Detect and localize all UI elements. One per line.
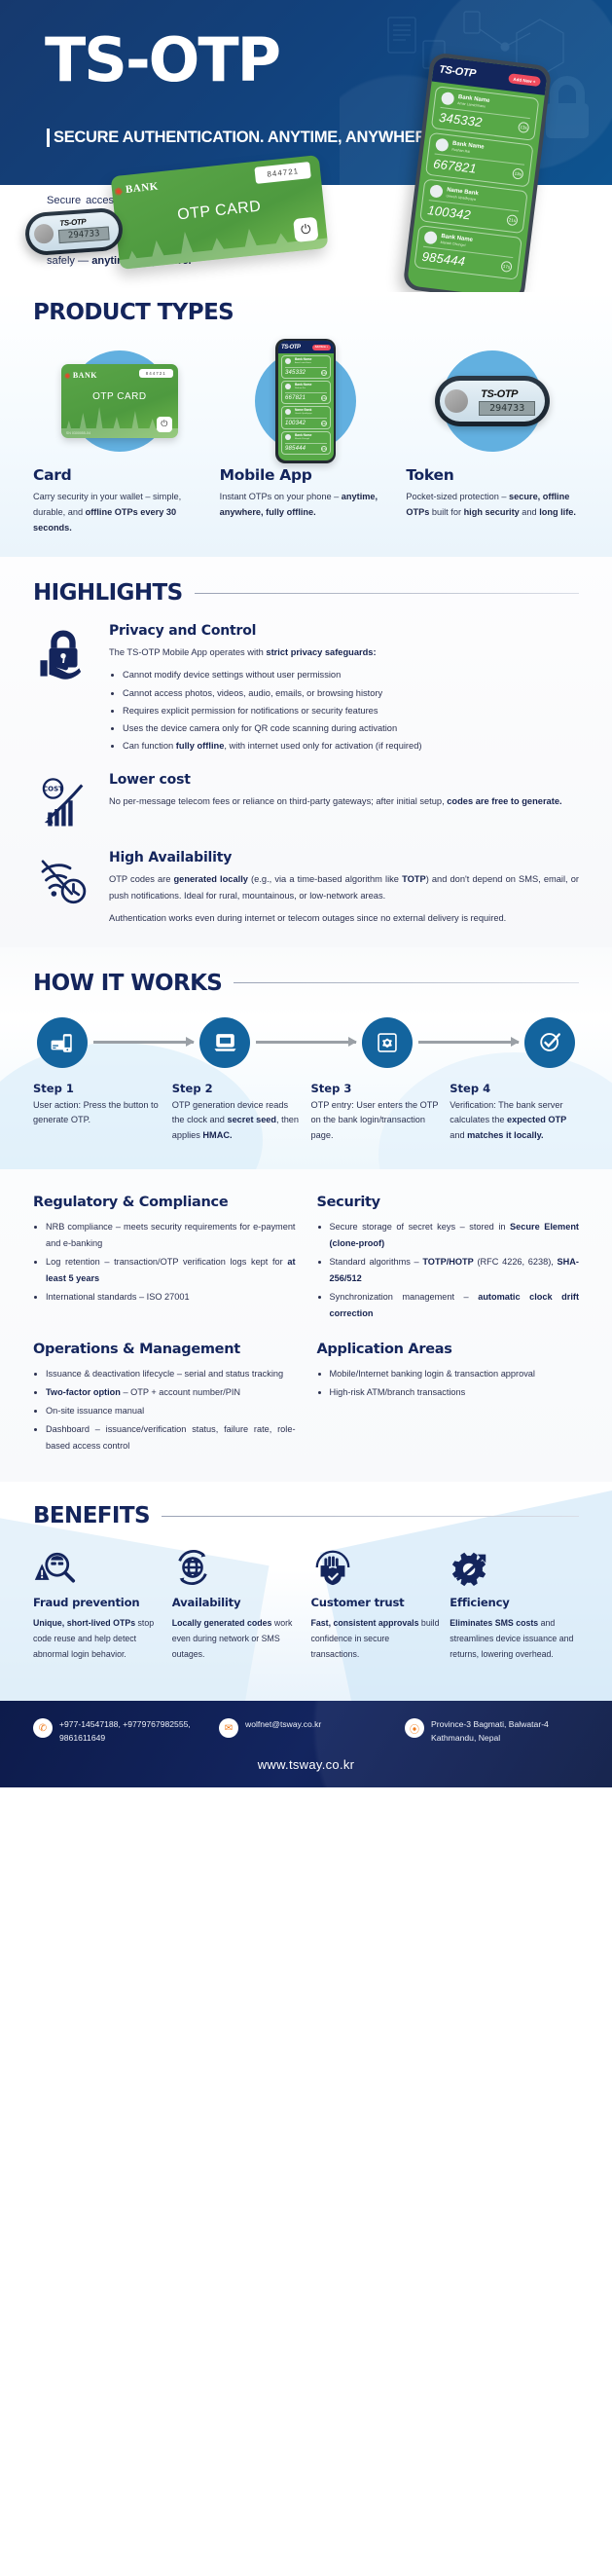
infographic-page: TS-OTP SECURE AUTHENTICATION. ANYTIME, A… xyxy=(0,0,612,1787)
info-title: Operations & Management xyxy=(33,1342,296,1357)
avatar xyxy=(435,138,449,152)
otp-code: 985444 xyxy=(285,446,306,452)
arrow-right-icon xyxy=(256,1041,356,1044)
avatar xyxy=(285,384,291,389)
footer-phone-text: +977-14547188, +9779767982555, 986161164… xyxy=(59,1718,207,1746)
info-bullet-list: Secure storage of secret keys – stored i… xyxy=(330,1219,580,1322)
list-item: Secure storage of secret keys – stored i… xyxy=(330,1219,580,1252)
info-title: Application Areas xyxy=(317,1342,580,1357)
product-type-card: ✺ BANK 844721 OTP CARD ⏻ SN 0300055-04 C… xyxy=(33,345,206,535)
list-item: Uses the device camera only for QR code … xyxy=(123,719,579,737)
list-item: On-site issuance manual xyxy=(46,1403,296,1419)
arrow-right-icon xyxy=(418,1041,519,1044)
product-type-desc: Instant OTPs on your phone – anytime, an… xyxy=(220,489,393,520)
info-sections: Regulatory & Compliance NRB compliance –… xyxy=(0,1169,612,1482)
highlight-intro: The TS-OTP Mobile App operates with stri… xyxy=(109,644,579,661)
product-type-name: Mobile App xyxy=(220,466,393,484)
token-brand-label: TS-OTP xyxy=(481,388,518,400)
step-desc: OTP entry: User enters the OTP on the ba… xyxy=(311,1098,441,1144)
otp-list-item[interactable]: Bank Name Amar Lamichhane 345332 13s xyxy=(431,86,540,141)
step-title: Step 3 xyxy=(311,1082,441,1095)
otp-person-name: Amar Lamichhane xyxy=(295,362,311,365)
list-item: Issuance & deactivation lifecycle – seri… xyxy=(46,1366,296,1382)
info-grid-top: Regulatory & Compliance NRB compliance –… xyxy=(33,1195,579,1324)
benefits-heading: BENEFITS xyxy=(33,1503,579,1528)
steps-text-row: Step 1 User action: Press the button to … xyxy=(33,1082,579,1144)
list-item: Cannot modify device settings without us… xyxy=(123,666,579,683)
step-item: Step 4 Verification: The bank server cal… xyxy=(450,1082,579,1144)
card-otp-number: 844721 xyxy=(255,162,311,184)
info-block-operations: Operations & Management Issuance & deact… xyxy=(33,1342,296,1456)
benefit-desc: Locally generated codes work even during… xyxy=(172,1616,302,1662)
avatar xyxy=(285,358,291,364)
list-item: International standards – ISO 27001 xyxy=(46,1289,296,1306)
otp-list-item[interactable]: Bank Name Manish Dhungel 985444 17s xyxy=(414,225,522,280)
token-button[interactable] xyxy=(445,389,468,413)
benefit-title: Customer trust xyxy=(311,1596,441,1609)
list-item: Two-factor option – OTP + account number… xyxy=(46,1384,296,1401)
offline-clock-icon xyxy=(33,850,93,910)
otp-list-item[interactable]: Bank Name Amar Lamichhane 345332 13s xyxy=(281,355,331,379)
cost-chart-icon: COST xyxy=(33,772,93,832)
otp-list-item[interactable]: Name Bank Umesh Upadhyaya 100342 21s xyxy=(281,406,331,429)
otp-code: 667821 xyxy=(433,156,478,175)
otp-list-item[interactable]: Bank Name Roshan Rai 667821 13s xyxy=(425,132,534,188)
info-bullet-list: Mobile/Internet banking login & transact… xyxy=(330,1366,580,1401)
info-grid-bottom: Operations & Management Issuance & deact… xyxy=(33,1342,579,1456)
arrow-right-icon xyxy=(93,1041,194,1044)
power-icon: ⏻ xyxy=(157,417,172,432)
highlight-title: Lower cost xyxy=(109,772,579,788)
product-types-grid: ✺ BANK 844721 OTP CARD ⏻ SN 0300055-04 C… xyxy=(33,345,579,535)
product-type-name: Card xyxy=(33,466,206,484)
avatar xyxy=(423,231,437,244)
phone-icon: ✆ xyxy=(33,1718,53,1738)
highlight-title: Privacy and Control xyxy=(109,623,579,639)
laptop-icon xyxy=(199,1017,250,1068)
list-item: NRB compliance – meets security requirem… xyxy=(46,1219,296,1252)
info-bullet-list: NRB compliance – meets security requirem… xyxy=(46,1219,296,1306)
benefit-title: Fraud prevention xyxy=(33,1596,162,1609)
otp-list-item[interactable]: Name Bank Umesh Upadhyaya 100342 21s xyxy=(419,178,528,234)
add-new-button[interactable]: Add New + xyxy=(312,345,331,350)
highlight-paragraph: OTP codes are generated locally (e.g., v… xyxy=(109,871,579,904)
product-type-name: Token xyxy=(406,466,579,484)
token-lcd-display: 294733 xyxy=(58,226,110,243)
card-bank-label: BANK xyxy=(73,371,97,380)
otp-code: 667821 xyxy=(285,395,306,401)
list-item: Synchronization management – automatic c… xyxy=(330,1289,580,1322)
footer-website[interactable]: www.tsway.co.kr xyxy=(33,1757,579,1772)
info-block-regulatory: Regulatory & Compliance NRB compliance –… xyxy=(33,1195,296,1324)
gear-screen-icon xyxy=(362,1017,413,1068)
benefit-desc: Eliminates SMS costs and streamlines dev… xyxy=(450,1616,579,1662)
benefit-desc: Fast, consistent approvals build confide… xyxy=(311,1616,441,1662)
otp-timer-badge: 21s xyxy=(321,421,327,426)
phone-otp-list: Bank Name Amar Lamichhane 345332 13s Ban… xyxy=(409,86,544,281)
benefit-title: Efficiency xyxy=(450,1596,579,1609)
card-bank-label: BANK xyxy=(125,180,159,195)
list-item: Cannot access photos, videos, audio, ema… xyxy=(123,684,579,702)
otp-list-item[interactable]: Bank Name Roshan Rai 667821 13s xyxy=(281,381,331,404)
step-item: Step 2 OTP generation device reads the c… xyxy=(172,1082,302,1144)
location-pin-icon: ⦿ xyxy=(405,1718,424,1738)
step-item: Step 3 OTP entry: User enters the OTP on… xyxy=(311,1082,441,1144)
footer-address-text: Province-3 Bagmati, Balwatar-4 Kathmandu… xyxy=(431,1718,579,1746)
list-item: Dashboard – issuance/verification status… xyxy=(46,1421,296,1454)
steps-icon-row xyxy=(33,1017,579,1068)
svg-text:COST: COST xyxy=(43,786,63,793)
step-item: Step 1 User action: Press the button to … xyxy=(33,1082,162,1144)
info-title: Security xyxy=(317,1195,580,1210)
info-block-application-areas: Application Areas Mobile/Internet bankin… xyxy=(317,1342,580,1456)
power-icon: ⏻ xyxy=(293,217,318,242)
globe-refresh-icon xyxy=(172,1546,302,1587)
otp-code: 985444 xyxy=(421,249,466,269)
info-block-security: Security Secure storage of secret keys –… xyxy=(317,1195,580,1324)
list-item: Standard algorithms – TOTP/HOTP (RFC 422… xyxy=(330,1254,580,1287)
hero-subtitle: SECURE AUTHENTICATION. ANYTIME, ANYWHERE xyxy=(47,129,437,147)
otp-person-name: Umesh Upadhyaya xyxy=(295,413,312,416)
info-title: Regulatory & Compliance xyxy=(33,1195,296,1210)
benefit-item: Efficiency Eliminates SMS costs and stre… xyxy=(450,1546,579,1662)
bank-star-icon: ✺ xyxy=(64,372,71,381)
step-desc: Verification: The bank server calculates… xyxy=(450,1098,579,1144)
otp-person-name: Manish Dhungel xyxy=(295,438,311,441)
otp-timer-badge: 13s xyxy=(321,395,327,401)
otp-code: 345332 xyxy=(438,110,483,129)
benefits-grid: Fraud prevention Unique, short-lived OTP… xyxy=(33,1546,579,1662)
highlights-section: HIGHLIGHTS Privacy and Control The TS-OT… xyxy=(0,557,612,946)
add-new-button[interactable]: Add New + xyxy=(508,73,541,87)
benefit-item: Availability Locally generated codes wor… xyxy=(172,1546,302,1662)
otp-timer-badge: 21s xyxy=(506,214,518,226)
benefit-item: Fraud prevention Unique, short-lived OTP… xyxy=(33,1546,162,1662)
highlight-item: Privacy and Control The TS-OTP Mobile Ap… xyxy=(33,623,579,754)
product-card-visual: ✺ BANK 844721 OTP CARD ⏻ SN 0300055-04 xyxy=(61,364,178,438)
list-item: Mobile/Internet banking login & transact… xyxy=(330,1366,580,1382)
shield-check-icon xyxy=(524,1017,575,1068)
mail-icon: ✉ xyxy=(219,1718,238,1738)
otp-code: 100342 xyxy=(285,421,306,426)
benefits-section: BENEFITS Fraud prevention Unique, short-… xyxy=(0,1482,612,1701)
otp-timer-badge: 17s xyxy=(321,446,327,452)
avatar xyxy=(285,434,291,440)
footer-address: ⦿ Province-3 Bagmati, Balwatar-4 Kathman… xyxy=(405,1718,579,1746)
otp-code: 345332 xyxy=(285,370,306,376)
list-item: Can function fully offline, with interne… xyxy=(123,737,579,754)
how-it-works-section: HOW IT WORKS xyxy=(0,947,612,1169)
footer-section: ✆ +977-14547188, +9779767982555, 9861611… xyxy=(0,1701,612,1787)
highlight-item: High Availability OTP codes are generate… xyxy=(33,850,579,928)
product-phone-visual: TS-OTP Add New + Bank Name Amar Lamichha… xyxy=(275,339,336,463)
footer-email-text: wolfnet@tsway.co.kr xyxy=(245,1718,321,1732)
card-phone-icon xyxy=(37,1017,88,1068)
highlight-paragraph: No per-message telecom fees or reliance … xyxy=(109,793,579,810)
hero-title: TS-OTP xyxy=(45,33,279,88)
phone-app-brand: TS-OTP xyxy=(281,345,301,350)
highlight-item: COST Lower cost No per-message telecom f… xyxy=(33,772,579,832)
otp-bank-name: Bank Name xyxy=(295,358,311,362)
token-lcd-display: 294733 xyxy=(479,401,535,416)
highlight-paragraph: Authentication works even during interne… xyxy=(109,910,579,927)
product-type-desc: Pocket-sized protection – secure, offlin… xyxy=(406,489,579,520)
footer-contact-row: ✆ +977-14547188, +9779767982555, 9861611… xyxy=(33,1718,579,1746)
fraud-detect-icon xyxy=(33,1546,162,1587)
token-button[interactable] xyxy=(33,223,54,243)
step-title: Step 4 xyxy=(450,1082,579,1095)
card-otp-number: 844721 xyxy=(139,369,173,378)
highlight-bullet-list: Cannot modify device settings without us… xyxy=(123,666,579,754)
list-item: High-risk ATM/branch transactions xyxy=(330,1384,580,1401)
hero-section: TS-OTP SECURE AUTHENTICATION. ANYTIME, A… xyxy=(0,0,612,292)
highlight-title: High Availability xyxy=(109,850,579,865)
phone-app-header: TS-OTP Add New + xyxy=(278,341,334,353)
bank-star-icon: ✺ xyxy=(114,185,125,199)
otp-person-name: Roshan Rai xyxy=(295,387,311,390)
gear-arrow-icon xyxy=(450,1546,579,1587)
footer-phone[interactable]: ✆ +977-14547188, +9779767982555, 9861611… xyxy=(33,1718,207,1746)
step-title: Step 1 xyxy=(33,1082,162,1095)
how-it-works-heading: HOW IT WORKS xyxy=(33,971,579,996)
heading-rule xyxy=(162,1516,579,1517)
product-type-mobile-app: TS-OTP Add New + Bank Name Amar Lamichha… xyxy=(220,345,393,535)
handshake-shield-icon xyxy=(311,1546,441,1587)
avatar xyxy=(429,184,443,198)
otp-timer-badge: 13s xyxy=(512,167,523,179)
step-desc: User action: Press the button to generat… xyxy=(33,1098,162,1129)
benefit-title: Availability xyxy=(172,1596,302,1609)
otp-timer-badge: 13s xyxy=(518,122,529,133)
footer-email[interactable]: ✉ wolfnet@tsway.co.kr xyxy=(219,1718,393,1738)
product-types-section: PRODUCT TYPES ✺ BANK 844721 OTP CARD ⏻ xyxy=(0,292,612,557)
product-token-visual: TS-OTP 294733 xyxy=(435,376,550,426)
card-serial: SN 0300055-04 xyxy=(66,431,90,435)
hero-token-device: TS-OTP 294733 xyxy=(24,207,125,257)
benefit-item: Customer trust Fast, consistent approval… xyxy=(311,1546,441,1662)
heading-rule xyxy=(234,982,579,983)
otp-timer-badge: 17s xyxy=(500,261,512,273)
list-item: Log retention – transaction/OTP verifica… xyxy=(46,1254,296,1287)
list-item: Requires explicit permission for notific… xyxy=(123,702,579,719)
step-desc: OTP generation device reads the clock an… xyxy=(172,1098,302,1144)
otp-list-item[interactable]: Bank Name Manish Dhungel 985444 17s xyxy=(281,431,331,455)
avatar xyxy=(441,92,454,105)
phone-app-brand: TS-OTP xyxy=(439,63,477,80)
avatar xyxy=(285,409,291,415)
step-title: Step 2 xyxy=(172,1082,302,1095)
phone-otp-list: Bank Name Amar Lamichhane 345332 13s Ban… xyxy=(278,355,334,455)
info-bullet-list: Issuance & deactivation lifecycle – seri… xyxy=(46,1366,296,1454)
lock-in-hand-icon xyxy=(33,623,93,683)
token-brand-label: TS-OTP xyxy=(59,217,86,228)
otp-timer-badge: 13s xyxy=(321,370,327,376)
heading-rule xyxy=(195,593,579,594)
highlights-heading: HIGHLIGHTS xyxy=(33,580,579,606)
product-type-token: TS-OTP 294733 Token Pocket-sized protect… xyxy=(406,345,579,535)
otp-code: 100342 xyxy=(427,202,472,222)
product-type-desc: Carry security in your wallet – simple, … xyxy=(33,489,206,535)
product-types-heading: PRODUCT TYPES xyxy=(33,300,579,325)
benefit-desc: Unique, short-lived OTPs stop code reuse… xyxy=(33,1616,162,1662)
